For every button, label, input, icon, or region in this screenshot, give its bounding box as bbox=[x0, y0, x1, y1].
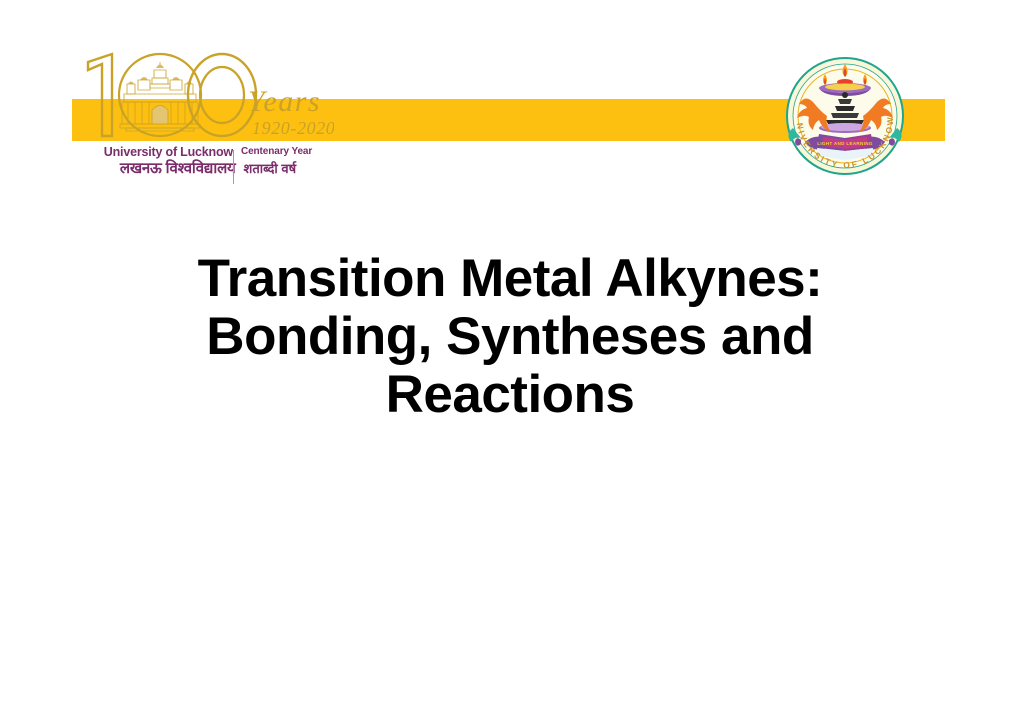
wordmark-centenary-hi: शताब्दी वर्ष bbox=[244, 162, 297, 176]
svg-text:Years: Years bbox=[248, 85, 321, 118]
centenary-100-years-mark: Years 1920-2020 bbox=[82, 48, 334, 144]
wordmark-university-hi: लखनऊ विश्वविद्यालय bbox=[120, 161, 236, 177]
centenary-logo: Years 1920-2020 University of Lucknow Ce… bbox=[82, 48, 334, 193]
wordmark-divider bbox=[233, 150, 234, 184]
slide-title: Transition Metal Alkynes: Bonding, Synth… bbox=[110, 250, 910, 424]
title-line-3: Reactions bbox=[110, 366, 910, 424]
emblem-motto-text: LIGHT AND LEARNING bbox=[817, 141, 873, 146]
centenary-wordmark: University of Lucknow Centenary Year लखन… bbox=[82, 146, 334, 192]
wordmark-centenary-en: Centenary Year bbox=[241, 147, 312, 158]
presentation-slide: Years 1920-2020 University of Lucknow Ce… bbox=[0, 0, 1020, 721]
university-of-lucknow-emblem: LIGHT AND LEARNING UNIVERSITY OF LUCKNOW bbox=[783, 50, 907, 182]
wordmark-university-en: University of Lucknow bbox=[104, 146, 233, 159]
title-line-1: Transition Metal Alkynes: bbox=[110, 250, 910, 308]
title-line-2: Bonding, Syntheses and bbox=[110, 308, 910, 366]
svg-text:1920-2020: 1920-2020 bbox=[252, 118, 334, 138]
